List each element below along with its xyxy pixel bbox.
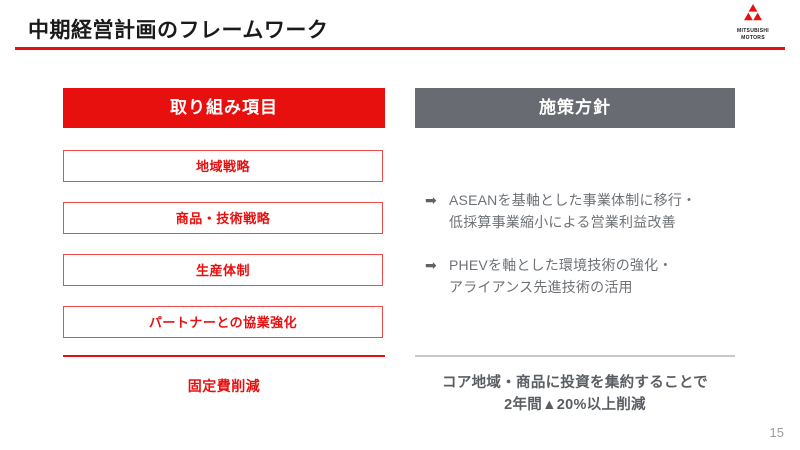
mitsubishi-motors-logo: MITSUBISHI MOTORS xyxy=(722,4,784,44)
slide-header: 中期経営計画のフレームワーク MITSUBISHI MOTORS xyxy=(0,0,800,52)
bullet-line-1: ASEANを基軸とした事業体制に移行・ xyxy=(449,190,735,212)
list-item: ➡ ASEANを基軸とした事業体制に移行・ 低採算事業縮小による営業利益改善 xyxy=(425,190,735,233)
item-box-partner-collaboration[interactable]: パートナーとの協業強化 xyxy=(63,306,383,338)
item-box-regional-strategy[interactable]: 地域戦略 xyxy=(63,150,383,182)
logo-wordmark-line2: MOTORS xyxy=(722,35,784,41)
bullet-line-1: PHEVを軸とした環境技術の強化・ xyxy=(449,255,735,277)
arrow-right-icon: ➡ xyxy=(425,192,443,208)
three-diamonds-icon xyxy=(740,4,766,27)
right-column-header: 施策方針 xyxy=(415,88,735,128)
left-divider-rule xyxy=(63,355,385,357)
right-column: 施策方針 ➡ ASEANを基軸とした事業体制に移行・ 低採算事業縮小による営業利… xyxy=(415,88,735,128)
title-underline-rule xyxy=(15,47,785,50)
logo-wordmark-line1: MITSUBISHI xyxy=(722,28,784,34)
right-divider-rule xyxy=(415,355,735,357)
left-column-header: 取り組み項目 xyxy=(63,88,385,128)
left-column-footnote: 固定費削減 xyxy=(63,376,385,396)
policy-bullet-list: ➡ ASEANを基軸とした事業体制に移行・ 低採算事業縮小による営業利益改善 ➡… xyxy=(425,190,735,321)
left-column: 取り組み項目 地域戦略 商品・技術戦略 生産体制 パートナーとの協業強化 固定費… xyxy=(63,88,385,128)
item-box-product-tech-strategy[interactable]: 商品・技術戦略 xyxy=(63,202,383,234)
page-title: 中期経営計画のフレームワーク xyxy=(28,14,328,44)
page-number: 15 xyxy=(770,425,784,440)
right-column-footnote: コア地域・商品に投資を集約することで 2年間▲20%以上削減 xyxy=(415,373,735,417)
right-footnote-line1: コア地域・商品に投資を集約することで xyxy=(415,373,735,395)
item-box-production-system[interactable]: 生産体制 xyxy=(63,254,383,286)
bullet-line-2: アライアンス先進技術の活用 xyxy=(449,277,735,299)
right-footnote-line2: 2年間▲20%以上削減 xyxy=(415,395,735,417)
list-item: ➡ PHEVを軸とした環境技術の強化・ アライアンス先進技術の活用 xyxy=(425,255,735,298)
bullet-line-2: 低採算事業縮小による営業利益改善 xyxy=(449,212,735,234)
arrow-right-icon: ➡ xyxy=(425,257,443,273)
